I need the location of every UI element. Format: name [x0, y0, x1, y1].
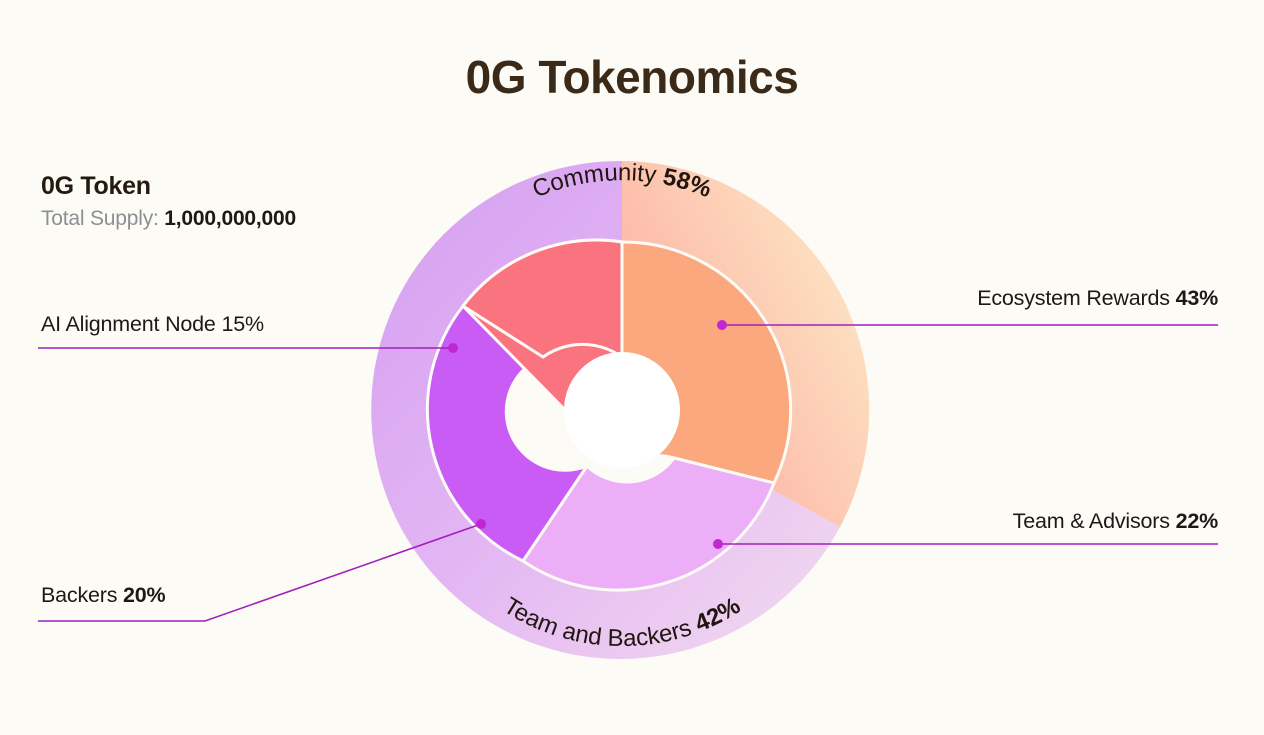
donut-center-hole: [564, 352, 680, 468]
tokenomics-infographic: 0G Tokenomics 0G Token Total Supply: 1,0…: [0, 0, 1264, 735]
callout-backers: Backers 20%: [41, 583, 165, 608]
leader-dot-ecosystem-rewards: [717, 320, 727, 330]
tokenomics-donut-chart: Community 58% Team and Backers 42%: [0, 0, 1264, 735]
callout-team-advisors-name: Team & Advisors: [1013, 509, 1170, 533]
callout-team-advisors: Team & Advisors 22%: [1013, 509, 1218, 534]
leader-dot-ai-alignment-node: [448, 343, 458, 353]
callout-backers-name: Backers: [41, 583, 117, 607]
callout-ecosystem-rewards-name: Ecosystem Rewards: [977, 286, 1170, 310]
callout-ai-alignment-node-name: AI Alignment Node: [41, 312, 216, 336]
callout-backers-pct: 20%: [123, 583, 165, 607]
leader-dot-team-advisors: [713, 539, 723, 549]
callout-ecosystem-rewards-pct: 43%: [1176, 286, 1218, 310]
callout-ai-alignment-node: AI Alignment Node 15%: [41, 312, 264, 337]
callout-ecosystem-rewards: Ecosystem Rewards 43%: [977, 286, 1218, 311]
leader-dot-backers: [476, 519, 486, 529]
callout-ai-alignment-node-pct: 15%: [221, 312, 263, 336]
callout-team-advisors-pct: 22%: [1176, 509, 1218, 533]
